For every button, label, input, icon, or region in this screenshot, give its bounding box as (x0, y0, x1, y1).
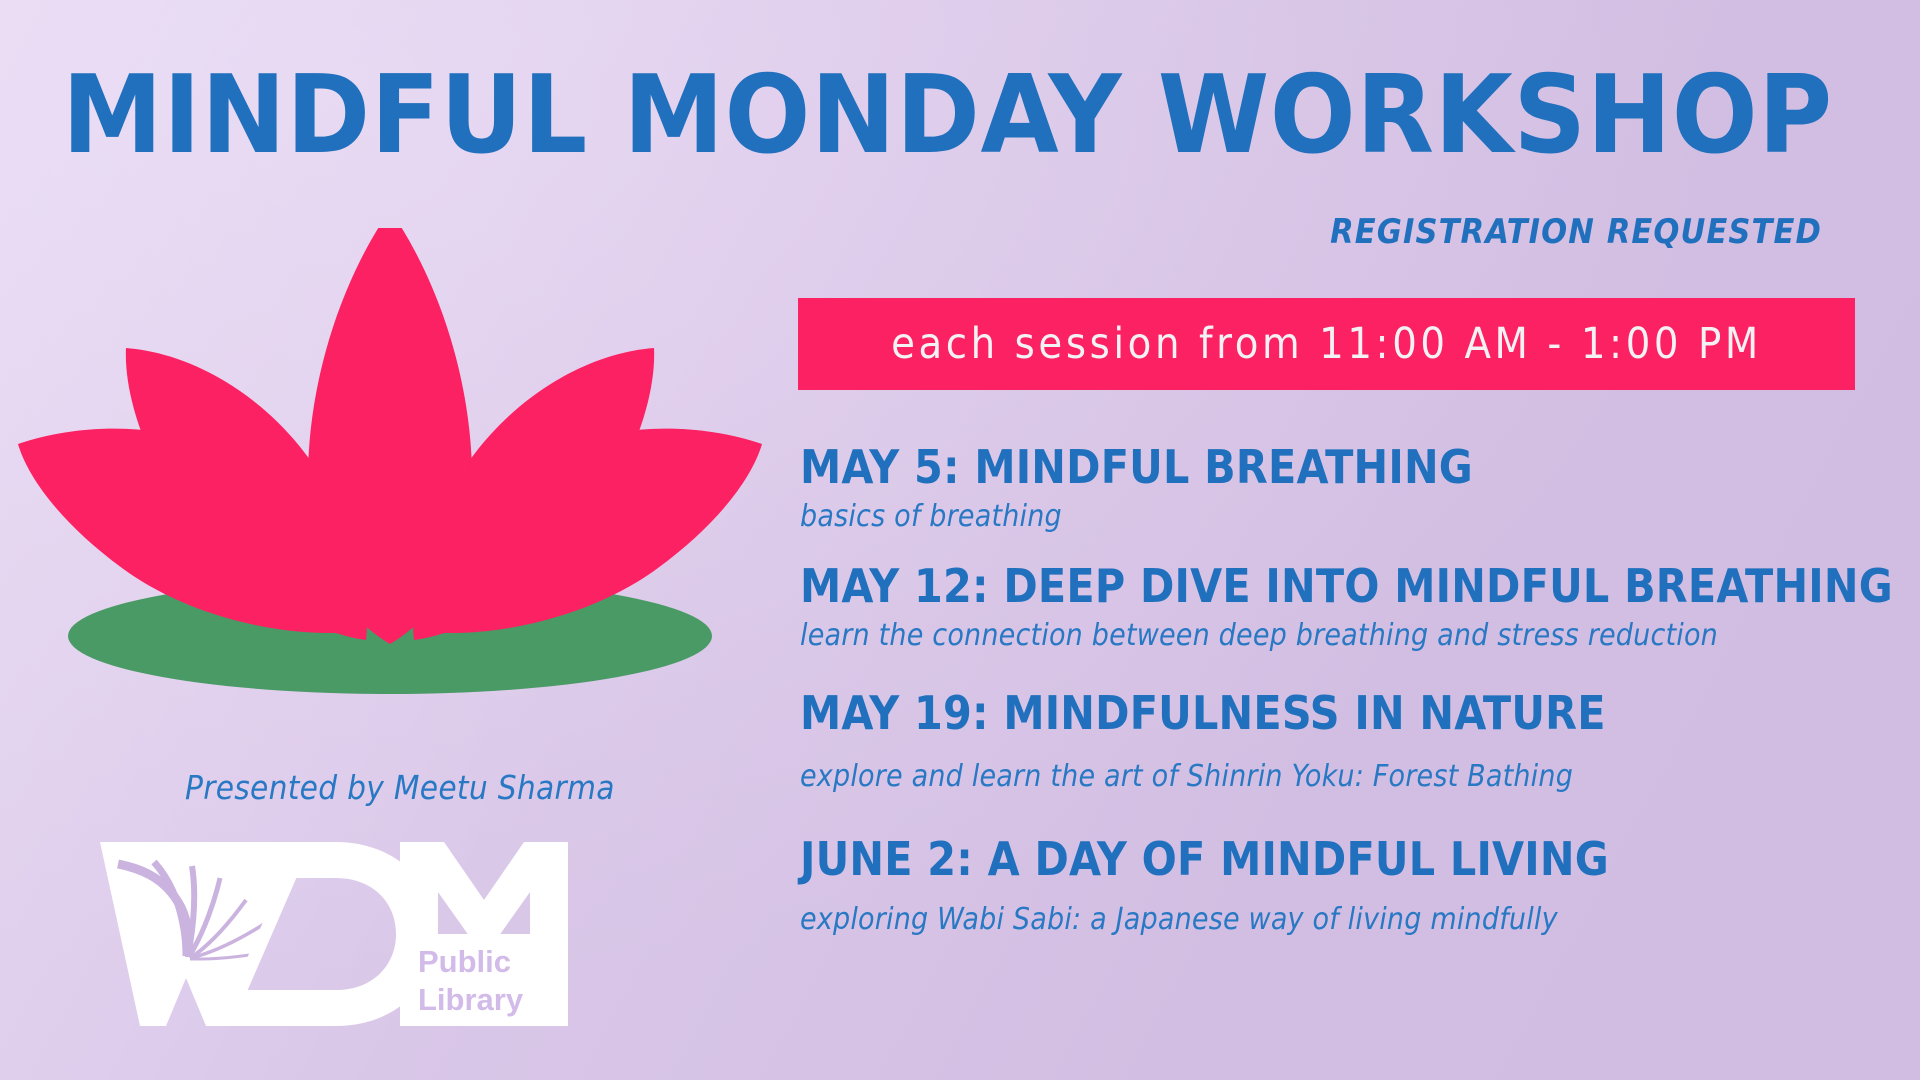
event-title: MAY 12: DEEP DIVE INTO MINDFUL BREATHING (800, 559, 1890, 613)
event-description: basics of breathing (800, 494, 1890, 541)
event-description: exploring Wabi Sabi: a Japanese way of l… (800, 897, 1890, 944)
list-item: MAY 19: MINDFULNESS IN NATURE explore an… (800, 686, 1890, 801)
presenter-credit: Presented by Meetu Sharma (185, 768, 615, 807)
session-time-text: each session from 11:00 AM - 1:00 PM (891, 319, 1762, 369)
lotus-flower-illustration (10, 228, 770, 728)
poster-canvas: MINDFUL MONDAY WORKSHOP REGISTRATION REQ… (0, 0, 1920, 1080)
registration-subtitle: REGISTRATION REQUESTED (1330, 212, 1822, 252)
wdm-public-library-logo: Public Library (100, 838, 600, 1028)
session-time-banner: each session from 11:00 AM - 1:00 PM (798, 298, 1855, 390)
event-title: MAY 5: MINDFUL BREATHING (800, 440, 1890, 494)
logo-wordmark-line2: Library (418, 982, 524, 1017)
event-description: explore and learn the art of Shinrin Yok… (800, 754, 1890, 801)
lotus-petal-center (308, 228, 472, 644)
event-title: JUNE 2: A DAY OF MINDFUL LIVING (800, 832, 1890, 886)
page-title: MINDFUL MONDAY WORKSHOP (62, 62, 1920, 170)
event-description: learn the connection between deep breath… (800, 613, 1890, 660)
logo-letter-m (400, 842, 568, 940)
event-list: MAY 5: MINDFUL BREATHING basics of breat… (800, 440, 1890, 961)
list-item: JUNE 2: A DAY OF MINDFUL LIVING explorin… (800, 832, 1890, 943)
logo-wordmark-line1: Public (418, 944, 511, 979)
list-item: MAY 12: DEEP DIVE INTO MINDFUL BREATHING… (800, 559, 1890, 660)
list-item: MAY 5: MINDFUL BREATHING basics of breat… (800, 440, 1890, 541)
event-title: MAY 19: MINDFULNESS IN NATURE (800, 686, 1890, 740)
